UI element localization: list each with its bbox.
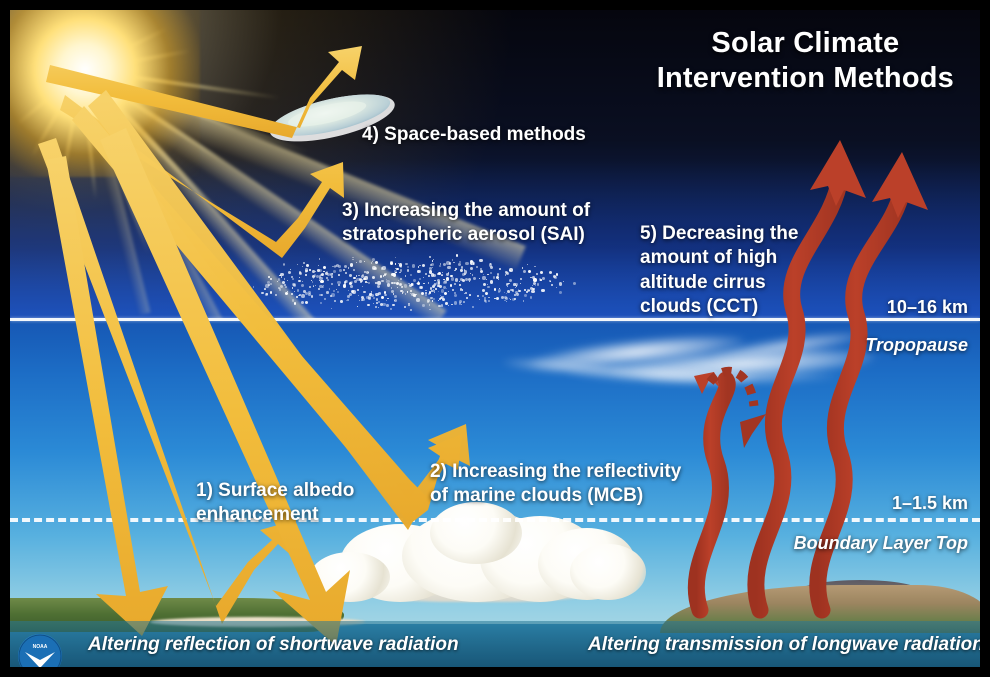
method-label-3: 3) Increasing the amount of stratospheri… [342,199,590,248]
method-label-5: 5) Decreasing the amount of high altitud… [640,222,798,319]
longwave-arrowhead-1 [810,140,866,206]
page-title: Solar Climate Intervention Methods [657,26,954,97]
altitude-tropopause: 10–16 km [887,297,968,318]
method-label-2: 2) Increasing the reflectivity of marine… [430,460,681,509]
title-line-2: Intervention Methods [657,61,954,96]
diagram-frame: Altering reflection of shortwave radiati… [10,10,980,667]
longwave-arrows-group [10,10,980,667]
noaa-logo: NOAA [18,634,62,667]
method-label-1: 1) Surface albedo enhancement [196,479,354,528]
longwave-arrow-3 [696,380,727,610]
caption-shortwave: Altering reflection of shortwave radiati… [88,634,459,656]
altitude-boundary-layer: 1–1.5 km [892,493,968,514]
layer-name-boundary-layer: Boundary Layer Top [794,533,968,554]
blocked-radiation-arrowhead [740,414,766,448]
noaa-logo-text: NOAA [33,644,48,650]
layer-name-tropopause: Tropopause [865,335,968,356]
caption-longwave: Altering transmission of longwave radiat… [588,634,980,656]
longwave-arrowhead-2 [872,152,928,218]
title-line-1: Solar Climate [657,26,954,61]
method-label-4: 4) Space-based methods [362,123,586,147]
diagram-canvas: Altering reflection of shortwave radiati… [0,0,990,677]
